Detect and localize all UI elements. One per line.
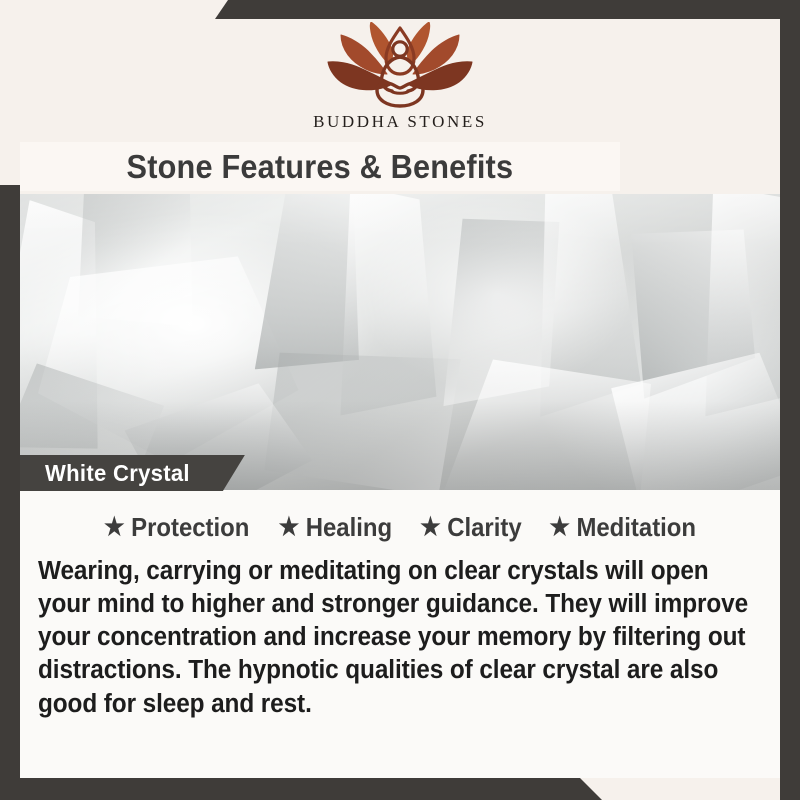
white-crystal-cluster-photo <box>0 193 800 490</box>
stone-name-tag: White Crystal <box>20 455 245 491</box>
frame-right-bar <box>780 0 800 800</box>
benefit-label: Protection <box>132 512 250 543</box>
benefit-label: Clarity <box>447 512 521 543</box>
benefit-item-healing: ★ Healing <box>279 512 409 543</box>
brand-logo: BUDDHA STONES <box>0 22 800 132</box>
star-icon: ★ <box>104 515 125 540</box>
description-text: Wearing, carrying or meditating on clear… <box>38 555 757 721</box>
star-icon: ★ <box>550 515 571 540</box>
benefit-item-clarity: ★ Clarity <box>420 512 538 543</box>
benefit-item-meditation: ★ Meditation <box>550 512 697 543</box>
infographic-card: BUDDHA STONES Stone Features & Benefits … <box>0 0 800 800</box>
header-section: BUDDHA STONES Stone Features & Benefits <box>0 0 800 194</box>
benefit-item-protection: ★ Protection <box>104 512 266 543</box>
brand-name: BUDDHA STONES <box>313 112 487 132</box>
frame-left-bar <box>0 185 20 800</box>
benefit-label: Healing <box>306 512 392 543</box>
frame-bottom-bar <box>0 778 602 800</box>
frame-top-bar <box>215 0 800 19</box>
star-icon: ★ <box>279 515 300 540</box>
page-title: Stone Features & Benefits <box>127 148 514 186</box>
content-panel: ★ Protection ★ Healing ★ Clarity ★ Medit… <box>20 490 780 778</box>
benefits-list: ★ Protection ★ Healing ★ Clarity ★ Medit… <box>38 512 762 543</box>
benefit-label: Meditation <box>577 512 697 543</box>
stone-name-label: White Crystal <box>45 460 190 487</box>
star-icon: ★ <box>420 515 441 540</box>
title-banner: Stone Features & Benefits <box>20 142 620 191</box>
lotus-meditation-icon <box>315 22 485 108</box>
photo-vignette <box>0 193 800 490</box>
